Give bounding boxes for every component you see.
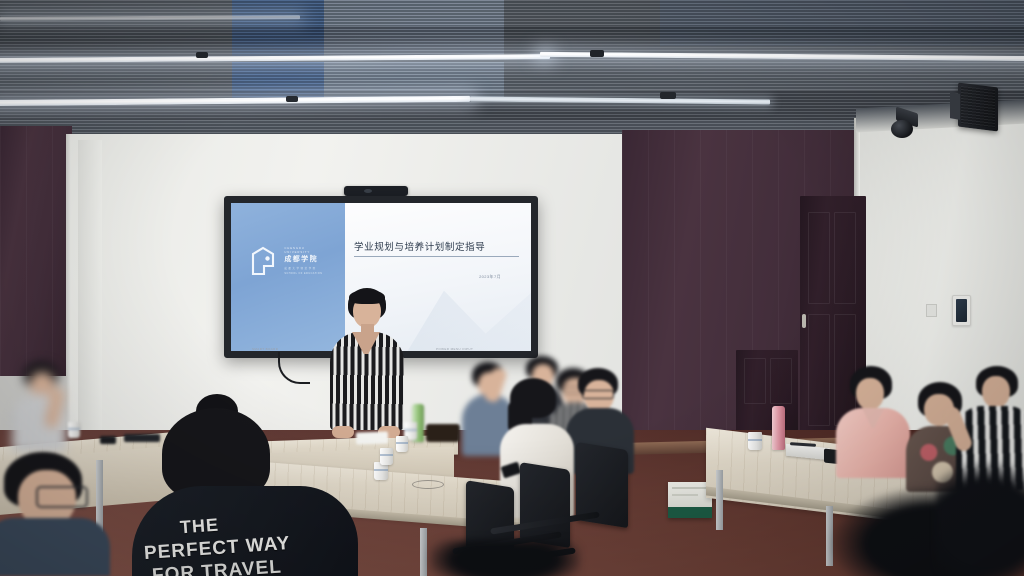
table-center-leg-2 bbox=[420, 528, 427, 576]
foreground-silhouette-right-2 bbox=[936, 462, 1024, 576]
conference-room-photo: CHENGDU UNIVERSITY 成都学院 成 都 大 学 师 范 学 院 … bbox=[0, 0, 1024, 576]
attendee-pink-blouse bbox=[836, 366, 912, 478]
foreground-person-tee: THE PERFECT WAY FOR TRAVEL bbox=[132, 394, 358, 576]
cup-right-1 bbox=[748, 432, 762, 450]
thermos-pink bbox=[772, 406, 785, 450]
logo-chinese-name: 成都学院 bbox=[284, 254, 318, 264]
eyeglasses-dark-shirt bbox=[582, 390, 614, 399]
house-outline-logo-icon bbox=[250, 246, 276, 276]
slide-title: 学业规划与培养计划制定指导 bbox=[354, 239, 519, 257]
ceiling-light-fixture-clip-a bbox=[196, 52, 208, 58]
wall-control-panel[interactable] bbox=[952, 295, 971, 326]
bag-on-podium bbox=[426, 424, 460, 442]
cup-left bbox=[68, 422, 80, 438]
logo-subtitle: 成 都 大 学 师 范 学 院 SCHOOL OF EDUCATION bbox=[284, 266, 322, 276]
tee-line1: THE bbox=[179, 515, 219, 539]
person-left-seated bbox=[6, 362, 78, 454]
speaker-bracket bbox=[950, 92, 960, 120]
table-right-leg-1 bbox=[716, 470, 723, 530]
cup-center-2 bbox=[380, 448, 393, 465]
wall-socket-small[interactable] bbox=[926, 304, 937, 317]
foreground-eyeglasses bbox=[36, 486, 88, 508]
university-logo: CHENGDU UNIVERSITY 成都学院 成 都 大 学 师 范 学 院 … bbox=[250, 244, 328, 288]
wall-panel-left bbox=[0, 126, 72, 376]
ceiling-light-fixture-clip-b bbox=[590, 50, 604, 57]
ceiling-light-fixture-clip-d bbox=[660, 92, 676, 99]
logo-sub-line2: SCHOOL OF EDUCATION bbox=[284, 272, 322, 275]
papers-on-podium bbox=[356, 431, 388, 444]
presenter-hair-fringe bbox=[349, 290, 385, 304]
camera-sound-bar bbox=[344, 186, 408, 196]
phone-left-table bbox=[100, 436, 116, 444]
cup-center-3 bbox=[396, 436, 408, 452]
logo-sub-line1: 成 都 大 学 师 范 学 院 bbox=[284, 267, 315, 270]
display-brand-label: SMART BOARD bbox=[252, 347, 278, 351]
foreground-silhouette-center bbox=[430, 540, 580, 576]
logo-english-name: CHENGDU UNIVERSITY bbox=[284, 246, 328, 254]
ceiling-light-fixture-clip-c bbox=[286, 96, 298, 102]
slide-date: 2023年7月 bbox=[479, 274, 501, 280]
door-handle[interactable] bbox=[802, 314, 806, 328]
eyeglasses-on-table bbox=[412, 480, 444, 489]
display-control-label: POWER MENU INPUT bbox=[436, 347, 473, 351]
foreground-man-glasses bbox=[0, 452, 114, 576]
wall-pilaster bbox=[78, 140, 102, 430]
dome-security-camera bbox=[891, 120, 913, 138]
wall-speaker bbox=[958, 83, 998, 132]
